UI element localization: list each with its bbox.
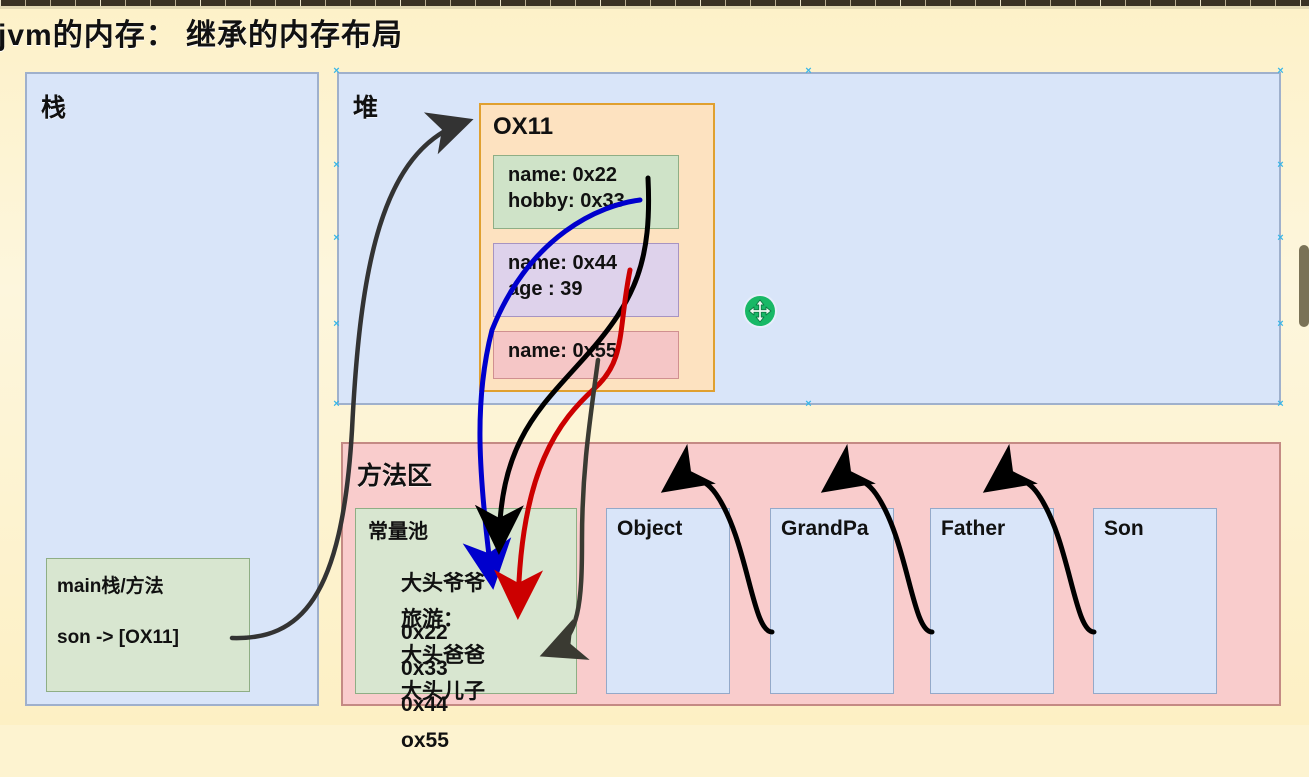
selection-handle-e1[interactable] [1276,161,1285,170]
constant-pool-box[interactable]: 常量池 大头爷爷 0x22 旅游： 0x33 大头爸爸 0x44 大头儿子 ox… [355,508,577,694]
selection-handle-e[interactable] [1276,234,1285,243]
region-heap-label: 堆 [353,88,378,124]
main-frame-title: main栈/方法 [57,571,164,598]
class-box-object[interactable]: Object [606,508,730,694]
object-layer-father[interactable]: name: 0x44 age : 39 [493,243,679,317]
selection-handle-n[interactable] [804,67,813,76]
class-box-grandpa[interactable]: GrandPa [770,508,894,694]
selection-handle-e2[interactable] [1276,320,1285,329]
main-stack-frame[interactable]: main栈/方法 son -> [OX11] [46,558,250,692]
object-layer-son[interactable]: name: 0x55 [493,331,679,379]
selection-handle-nw[interactable] [332,67,341,76]
field-line: name: 0x55 [508,338,668,364]
class-name: GrandPa [781,517,869,541]
page-title: jvm的内存： 继承的内存布局 [0,10,403,54]
diagram-canvas: jvm的内存： 继承的内存布局 栈 main栈/方法 son -> [OX11]… [0,0,1309,725]
field-line: name: 0x44 [508,250,668,276]
region-method-area-label: 方法区 [357,456,432,492]
selection-handle-sw[interactable] [332,400,341,409]
selection-handle-w2[interactable] [332,320,341,329]
field-line: hobby: 0x33 [508,188,668,214]
heap-object-address: OX11 [493,113,553,141]
cp-key: 大头儿子 [401,680,485,703]
constant-pool-title: 常量池 [368,515,428,544]
class-box-father[interactable]: Father [930,508,1054,694]
object-layer-grandpa[interactable]: name: 0x22 hobby: 0x33 [493,155,679,229]
field-line: age : 39 [508,276,668,302]
class-box-son[interactable]: Son [1093,508,1217,694]
field-line: name: 0x22 [508,162,668,188]
class-name: Object [617,517,682,541]
move-cursor-icon[interactable] [745,296,775,326]
selection-handle-s[interactable] [804,400,813,409]
class-name: Son [1104,517,1144,541]
selection-handle-se[interactable] [1276,400,1285,409]
selection-handle-ne[interactable] [1276,67,1285,76]
vertical-scrollbar-thumb[interactable] [1299,245,1309,327]
selection-handle-w1[interactable] [332,161,341,170]
cp-value: ox55 [401,729,449,752]
class-name: Father [941,517,1005,541]
main-frame-variable: son -> [OX11] [57,627,179,649]
selection-handle-w[interactable] [332,234,341,243]
ruler-shadow [0,6,1309,9]
region-stack-label: 栈 [41,88,66,124]
